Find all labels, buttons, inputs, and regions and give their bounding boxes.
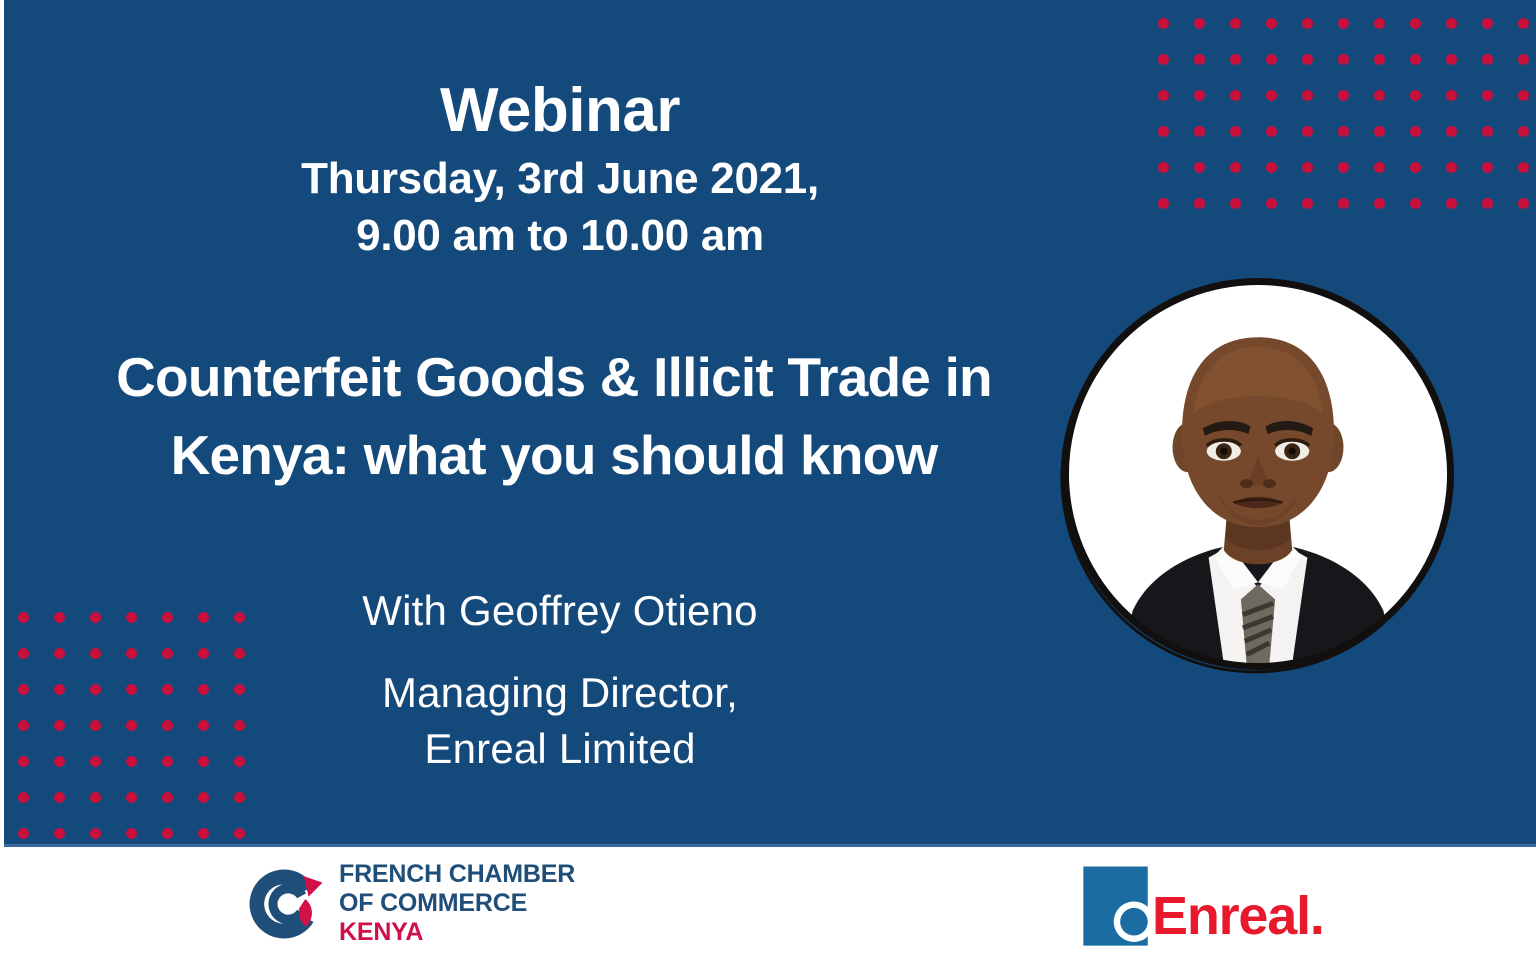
decorative-dot (54, 792, 65, 803)
decorative-dot (1230, 126, 1241, 137)
decorative-dot (1230, 198, 1241, 209)
decorative-dot (162, 828, 173, 839)
decorative-dot (18, 756, 29, 767)
decorative-dot (234, 792, 245, 803)
decorative-dot (1410, 54, 1421, 65)
decorative-dot (1518, 18, 1529, 29)
decorative-dot (126, 792, 137, 803)
decorative-dot (234, 828, 245, 839)
decorative-dot (18, 720, 29, 731)
decorative-dot (198, 828, 209, 839)
decorative-dot (1230, 54, 1241, 65)
decorative-dot (18, 792, 29, 803)
decorative-dot (1302, 54, 1313, 65)
decorative-dot (1410, 90, 1421, 101)
avatar (1062, 278, 1454, 670)
cci-line-1: FRENCH CHAMBER (339, 860, 575, 889)
decorative-dot (1518, 54, 1529, 65)
decorative-dot (54, 828, 65, 839)
enreal-wordmark: Enreal. (1152, 889, 1324, 943)
portrait-illustration (1068, 284, 1448, 664)
decorative-dot (1374, 54, 1385, 65)
decorative-dot (1374, 90, 1385, 101)
decorative-dot (1446, 90, 1457, 101)
decorative-dot (1194, 90, 1205, 101)
decorative-dot (1518, 126, 1529, 137)
decorative-dot (1266, 18, 1277, 29)
decorative-dot (1410, 126, 1421, 137)
decorative-dot (1266, 198, 1277, 209)
decorative-dot (18, 612, 29, 623)
decorative-dot (1338, 126, 1349, 137)
decorative-dot (1446, 54, 1457, 65)
decorative-dot (1302, 90, 1313, 101)
decorative-dot (1374, 126, 1385, 137)
decorative-dot (1338, 54, 1349, 65)
page-title: Counterfeit Goods & Illicit Trade in Ken… (44, 338, 1064, 494)
speaker-role: Managing Director, (60, 665, 1060, 721)
decorative-dot (1194, 126, 1205, 137)
decorative-dot (1302, 18, 1313, 29)
decorative-dot (1158, 126, 1169, 137)
decorative-dot (90, 792, 101, 803)
speaker-block: With Geoffrey Otieno Managing Director, … (60, 584, 1060, 777)
decorative-dot (1374, 198, 1385, 209)
decorative-dot (1482, 126, 1493, 137)
decorative-dot (1194, 162, 1205, 173)
speaker-name: With Geoffrey Otieno (60, 584, 1060, 639)
decorative-dot (1230, 162, 1241, 173)
decorative-dot (1446, 198, 1457, 209)
decorative-dot (1410, 18, 1421, 29)
decorative-dot (1266, 162, 1277, 173)
decorative-dot (1230, 18, 1241, 29)
decorative-dot (1158, 18, 1169, 29)
decorative-dot (1482, 198, 1493, 209)
french-chamber-wordmark: FRENCH CHAMBER OF COMMERCE KENYA (339, 860, 575, 947)
decorative-dot (1410, 162, 1421, 173)
decorative-dot (1518, 90, 1529, 101)
decorative-dot (1338, 162, 1349, 173)
speaker-company: Enreal Limited (60, 721, 1060, 777)
decorative-dot (1374, 18, 1385, 29)
decorative-dot (18, 648, 29, 659)
decorative-dot (1518, 198, 1529, 209)
avatar-photo (1068, 284, 1448, 664)
decorative-dot (1482, 18, 1493, 29)
webinar-poster: Webinar Thursday, 3rd June 2021, 9.00 am… (0, 0, 1536, 965)
event-date: Thursday, 3rd June 2021, (60, 150, 1060, 207)
decorative-dot (162, 792, 173, 803)
decorative-dot (1410, 198, 1421, 209)
decorative-dot (1158, 162, 1169, 173)
decorative-dot (90, 828, 101, 839)
cci-line-3: KENYA (339, 918, 575, 947)
event-type-heading: Webinar (60, 78, 1060, 144)
decorative-dot (1338, 18, 1349, 29)
enreal-logo: Enreal. (1076, 861, 1324, 953)
decorative-dot (1158, 90, 1169, 101)
decorative-dot (198, 792, 209, 803)
decorative-dot (1158, 54, 1169, 65)
decorative-dot (1158, 198, 1169, 209)
decorative-dot (1446, 126, 1457, 137)
decorative-dot (1374, 162, 1385, 173)
decorative-dot (1266, 126, 1277, 137)
decorative-dot (1302, 198, 1313, 209)
decorative-dot (18, 684, 29, 695)
decorative-dot (1446, 18, 1457, 29)
event-header-block: Webinar Thursday, 3rd June 2021, 9.00 am… (60, 78, 1060, 264)
decorative-dot (18, 828, 29, 839)
decorative-dot (1302, 162, 1313, 173)
decorative-dot (1194, 198, 1205, 209)
decorative-dot (1230, 90, 1241, 101)
decorative-dot (1338, 198, 1349, 209)
decorative-dot (1302, 126, 1313, 137)
decorative-dot (1446, 162, 1457, 173)
event-time: 9.00 am to 10.00 am (60, 207, 1060, 264)
footer-bar: FRENCH CHAMBER OF COMMERCE KENYA Enreal. (0, 847, 1536, 965)
decorative-dot (1194, 54, 1205, 65)
decorative-dot (1266, 90, 1277, 101)
decorative-dot (1482, 162, 1493, 173)
cci-mark-icon (243, 863, 325, 945)
decorative-dot (1482, 54, 1493, 65)
decorative-dot (1194, 18, 1205, 29)
cci-line-2: OF COMMERCE (339, 889, 575, 918)
decorative-dot (1482, 90, 1493, 101)
decorative-dot (1338, 90, 1349, 101)
dot-pattern-top-right (1158, 18, 1536, 234)
french-chamber-logo: FRENCH CHAMBER OF COMMERCE KENYA (243, 860, 575, 947)
decorative-dot (1266, 54, 1277, 65)
decorative-dot (1518, 162, 1529, 173)
decorative-dot (126, 828, 137, 839)
